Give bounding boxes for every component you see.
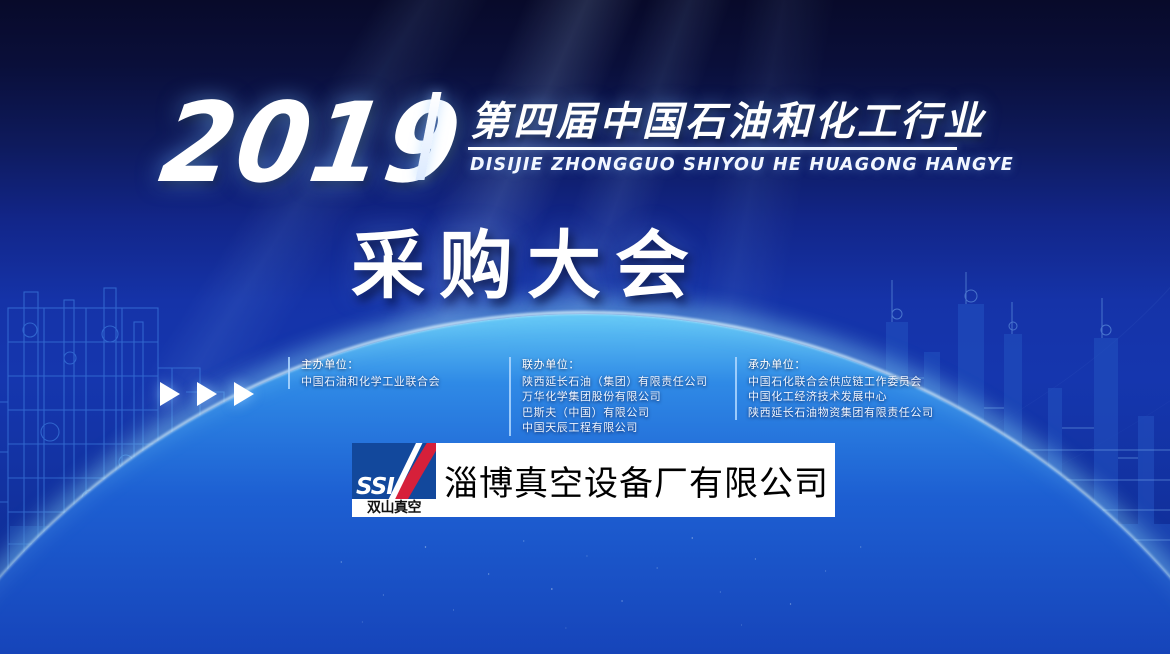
headline-block: 2019 第四届中国石油和化工行业 DISIJIE ZHONGGUO SHIYO… — [0, 86, 1170, 206]
organizer-block-organizer: 承办单位： 中国石化联合会供应链工作委员会 中国化工经济技术发展中心 陕西延长石… — [735, 357, 934, 420]
logo-chinese-name: 双山真空 — [352, 499, 436, 517]
organizer-item: 中国石油和化学工业联合会 — [301, 374, 440, 390]
event-poster: 2019 第四届中国石油和化工行业 DISIJIE ZHONGGUO SHIYO… — [0, 0, 1170, 654]
organizer-item: 中国天辰工程有限公司 — [522, 420, 708, 436]
arrow-decoration-group — [160, 382, 254, 406]
organizer-item: 巴斯夫（中国）有限公司 — [522, 405, 708, 421]
main-title: 采购大会 — [351, 206, 703, 313]
play-triangle-icon — [234, 382, 254, 406]
logo-wordmark: SSI — [356, 476, 394, 499]
globe-city-lights — [257, 502, 959, 652]
organizer-item: 中国化工经济技术发展中心 — [748, 389, 934, 405]
ssi-company-logo: SSI 双山真空 — [352, 443, 436, 517]
refinery-silhouette-left-icon — [0, 282, 234, 582]
event-title-pinyin: DISIJIE ZHONGGUO SHIYOU HE HUAGONG HANGY… — [470, 155, 1014, 175]
organizer-heading: 联办单位： — [522, 357, 708, 373]
organizer-item: 中国石化联合会供应链工作委员会 — [748, 374, 934, 390]
organizer-heading: 主办单位： — [301, 357, 440, 373]
organizer-heading: 承办单位： — [748, 357, 934, 373]
play-triangle-icon — [197, 382, 217, 406]
event-title-chinese: 第四届中国石油和化工行业 — [470, 89, 986, 147]
organizer-item: 陕西延长石油（集团）有限责任公司 — [522, 374, 708, 390]
company-banner: SSI 双山真空 淄博真空设备厂有限公司 — [352, 443, 835, 517]
organizer-block-host: 主办单位： 中国石油和化学工业联合会 — [288, 357, 440, 389]
organizer-item: 陕西延长石油物资集团有限责任公司 — [748, 405, 934, 421]
refinery-silhouette-right-icon — [880, 268, 1170, 588]
organizer-item: 万华化学集团股份有限公司 — [522, 389, 708, 405]
title-underline-rule — [468, 147, 957, 150]
play-triangle-icon — [160, 382, 180, 406]
company-name: 淄博真空设备厂有限公司 — [436, 443, 835, 517]
organizer-block-co-host: 联办单位： 陕西延长石油（集团）有限责任公司 万华化学集团股份有限公司 巴斯夫（… — [509, 357, 708, 436]
